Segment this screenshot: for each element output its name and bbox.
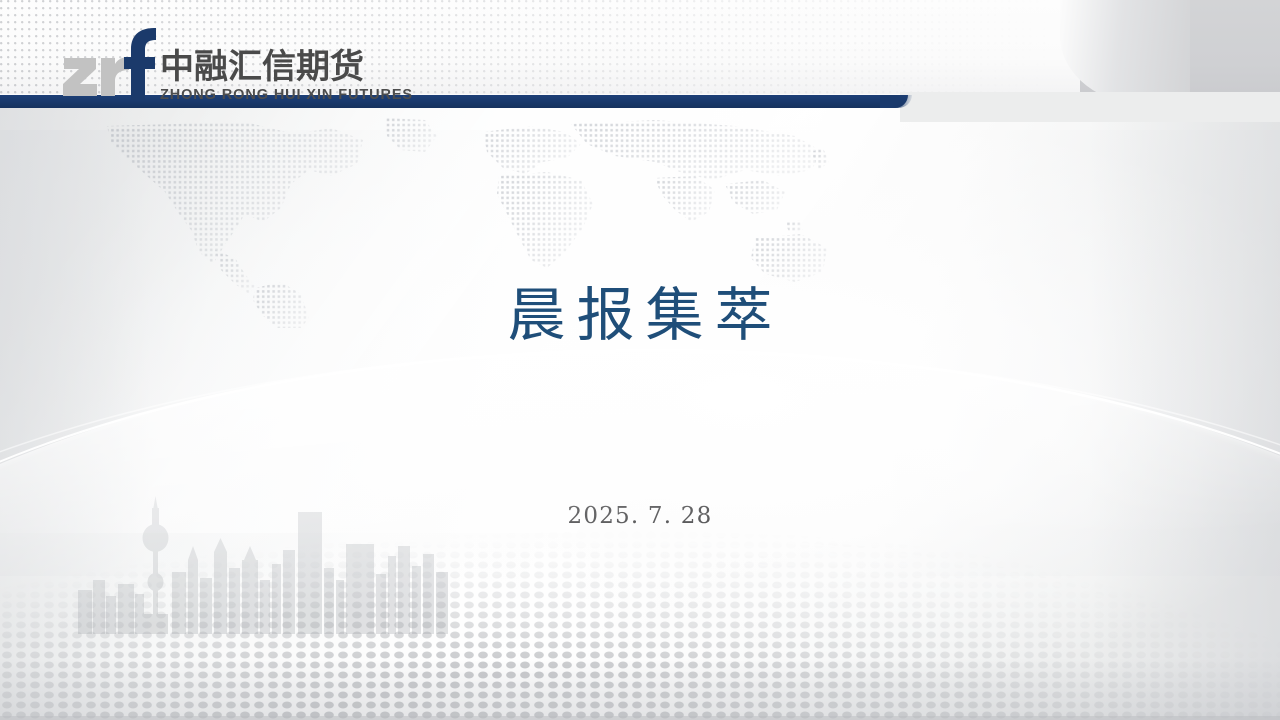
slide-date: 2025. 7. 28 — [0, 503, 1280, 529]
page-title: 晨报集萃 — [0, 282, 1280, 349]
company-logo: 中融汇信期货 ZHONG RONG HUI XIN FUTURES — [62, 26, 413, 102]
zrf-monogram-icon — [62, 26, 158, 102]
logo-company-cn: 中融汇信期货 — [160, 50, 413, 84]
header-notch — [900, 92, 1280, 122]
logo-text-block: 中融汇信期货 ZHONG RONG HUI XIN FUTURES — [160, 26, 413, 104]
logo-company-en: ZHONG RONG HUI XIN FUTURES — [160, 88, 413, 103]
title-slide: 中融汇信期货 ZHONG RONG HUI XIN FUTURES 晨报集萃 2… — [0, 0, 1280, 720]
